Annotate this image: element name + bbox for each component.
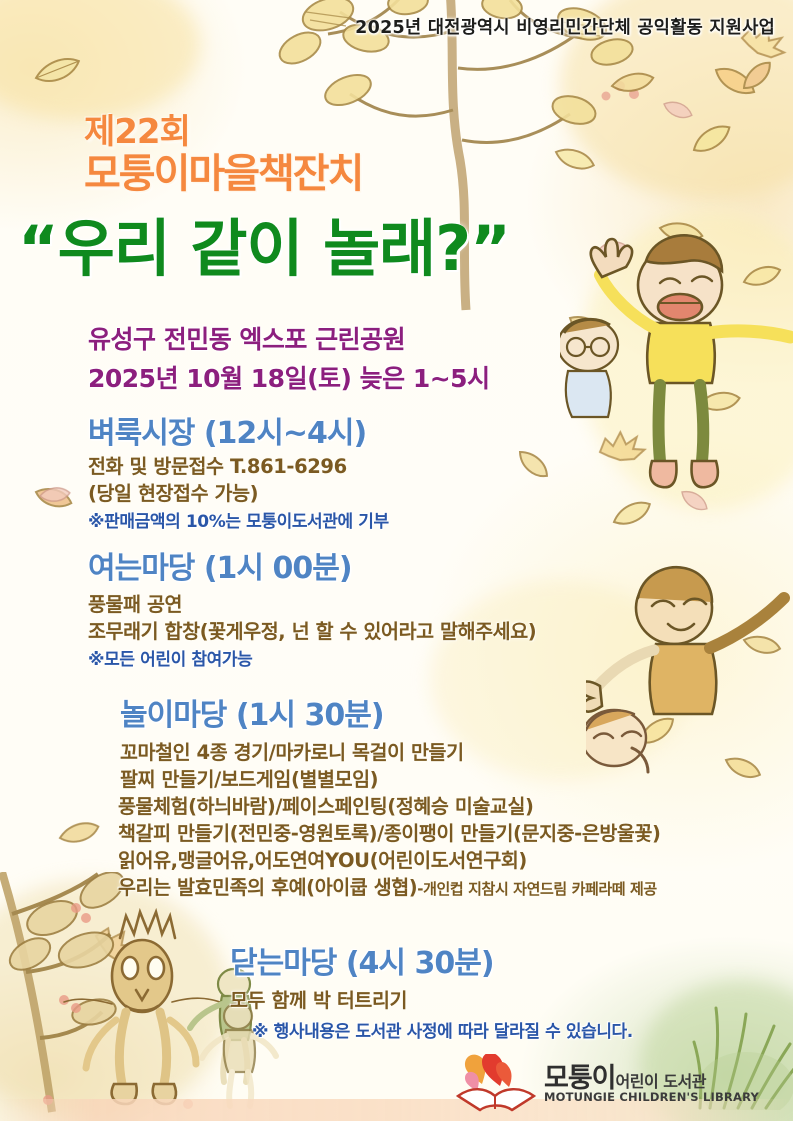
section-heading-play: 놀이마당 (1시 30분): [120, 690, 384, 734]
play-line-1: 꼬마철인 4종 경기/마카로니 목걸이 만들기: [120, 736, 464, 765]
poster-canvas: 2025년 대전광역시 비영리민간단체 공익활동 지원사업 제22회 모퉁이마을…: [0, 0, 793, 1121]
wash-mid-right: [580, 210, 793, 510]
closing-note: ※ 행사내용은 도서관 사정에 따라 달라질 수 있습니다.: [252, 1017, 633, 1042]
play-line-6-tail: -개인컵 지참시 자연드림 카페라떼 제공: [417, 880, 657, 898]
wash-center-right: [430, 580, 690, 780]
play-line-5: 읽어유,맹글어유,어도연여YOU(어린이도서연구회): [118, 844, 527, 873]
children-illustration-mid-right: [586, 552, 793, 802]
slogan-text: “우리 같이 놀래?”: [18, 198, 510, 288]
section-heading-flea-market: 벼룩시장 (12시~4시): [88, 408, 366, 452]
play-line-2: 팔찌 만들기/보드게임(별별모임): [120, 763, 378, 792]
logo-name-sub: 어린이 도서관: [616, 1072, 706, 1091]
flea-market-note: ※판매금액의 10%는 모퉁이도서관에 기부: [88, 507, 389, 532]
top-banner-text: 2025년 대전광역시 비영리민간단체 공익활동 지원사업: [355, 14, 775, 39]
opening-note: ※모든 어린이 참여가능: [88, 645, 252, 670]
opening-line-2: 조무래기 합창(꽃게우정, 넌 할 수 있어라고 말해주세요): [88, 615, 536, 644]
venue-location: 유성구 전민동 엑스포 근린공원: [88, 320, 405, 356]
wash-top-left: [0, 0, 200, 120]
library-logo: 모퉁이어린이 도서관 MOTUNGIE CHILDREN'S LIBRARY: [452, 1052, 687, 1114]
logo-english-name: MOTUNGIE CHILDREN'S LIBRARY: [544, 1090, 759, 1104]
flea-market-line-1: 전화 및 방문접수 T.861-6296: [88, 450, 347, 479]
section-heading-closing: 닫는마당 (4시 30분): [230, 938, 494, 982]
opening-line-1: 풍물패 공연: [88, 588, 182, 617]
open-book-logo-icon: [452, 1054, 540, 1112]
section-heading-opening: 여는마당 (1시 00분): [88, 543, 352, 587]
closing-line-1: 모두 함께 박 터트리기: [230, 984, 407, 1013]
play-line-6-main: 우리는 발효민족의 후예(아이쿱 생협): [118, 876, 417, 899]
children-illustration-right: [560, 225, 793, 525]
play-line-4: 책갈피 만들기(전민중-영원토록)/종이팽이 만들기(문지중-은방울꽃): [118, 817, 661, 846]
play-line-6: 우리는 발효민족의 후예(아이쿱 생협)-개인컵 지참시 자연드림 카페라떼 제…: [118, 871, 657, 900]
flea-market-line-2: (당일 현장접수 가능): [88, 477, 258, 506]
title-event-name: 모퉁이마을책잔치: [84, 141, 362, 199]
play-line-3: 풍물체험(하늬바람)/페이스페인팅(정혜승 미술교실): [118, 790, 534, 819]
wash-bottom-left: [0, 880, 230, 1120]
venue-datetime: 2025년 10월 18일(토) 늦은 1~5시: [88, 359, 490, 395]
